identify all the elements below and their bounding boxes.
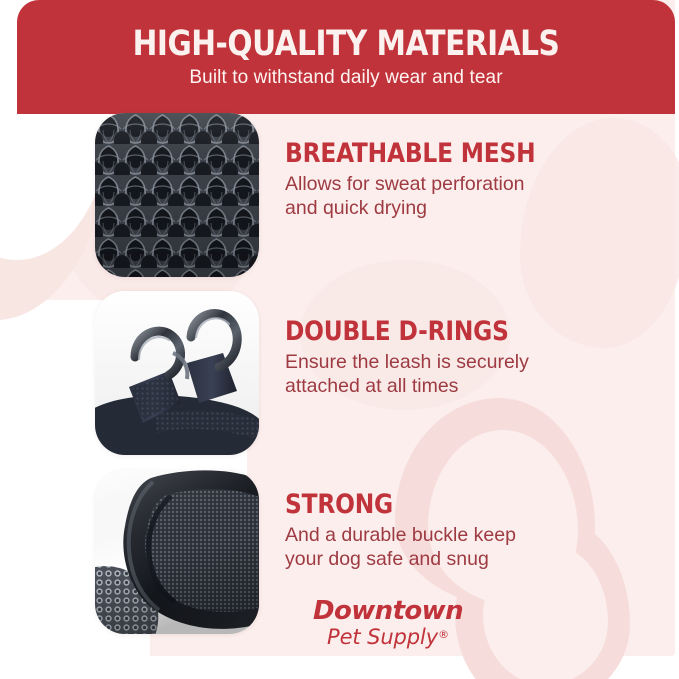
feature-heading: BREATHABLE MESH [285,139,592,169]
feature-description: And a durable buckle keep your dog safe … [285,523,605,572]
registered-trademark-icon: ® [438,628,449,641]
feature-description: Ensure the leash is securely attached at… [285,350,605,399]
feature-description-line1: And a durable buckle keep [285,523,605,548]
feature-description-line1: Allows for sweat perforation [285,172,605,197]
feature-text-block: STRONG And a durable buckle keep your do… [285,490,605,572]
brand-name-line1: Downtown [268,598,508,624]
mesh-fabric-closeup-photo [95,113,259,277]
feature-description-line1: Ensure the leash is securely [285,350,605,375]
feature-text-block: DOUBLE D-RINGS Ensure the leash is secur… [285,317,605,399]
double-d-rings-photo [95,291,259,455]
feature-text-block: BREATHABLE MESH Allows for sweat perfora… [285,139,605,221]
brand-name-line2: Pet Supply® [268,624,508,650]
feature-heading: DOUBLE D-RINGS [285,317,592,347]
brand-logo: Downtown Pet Supply® [268,598,508,650]
header-banner: HIGH-QUALITY MATERIALS Built to withstan… [17,0,675,114]
brand-name-line2-text: Pet Supply [327,625,438,649]
infographic-canvas: HIGH-QUALITY MATERIALS Built to withstan… [0,0,679,679]
page-title: HIGH-QUALITY MATERIALS [37,24,656,64]
feature-description-line2: attached at all times [285,374,605,399]
feature-description-line2: and quick drying [285,196,605,221]
padded-mesh-panel-photo [95,470,259,634]
feature-description-line2: your dog safe and snug [285,547,605,572]
feature-description: Allows for sweat perforation and quick d… [285,172,605,221]
page-subtitle: Built to withstand daily wear and tear [17,67,675,89]
feature-heading: STRONG [285,490,592,520]
